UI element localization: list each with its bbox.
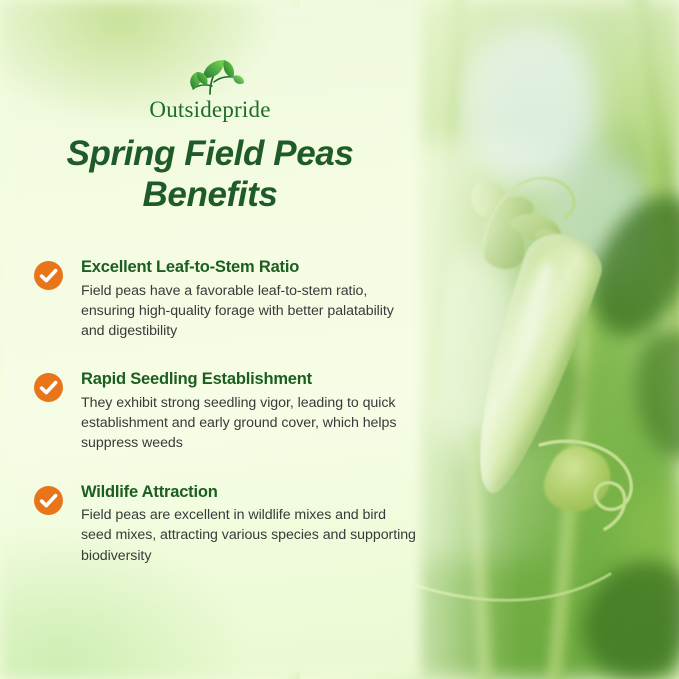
benefit-description: Field peas are excellent in wildlife mix… bbox=[81, 505, 416, 565]
benefit-description: They exhibit strong seedling vigor, lead… bbox=[81, 393, 416, 453]
benefit-title: Excellent Leaf-to-Stem Ratio bbox=[81, 258, 424, 278]
benefits-list: Excellent Leaf-to-Stem Ratio Field peas … bbox=[34, 258, 424, 566]
check-circle-icon bbox=[34, 261, 63, 290]
title-line-2: Benefits bbox=[28, 175, 392, 216]
infographic-canvas: Outsidepride Spring Field Peas Benefits … bbox=[0, 0, 679, 679]
check-circle-icon bbox=[34, 486, 63, 515]
benefit-item: Excellent Leaf-to-Stem Ratio Field peas … bbox=[34, 258, 424, 341]
brand-name: Outsidepride bbox=[0, 98, 420, 121]
benefit-item: Wildlife Attraction Field peas are excel… bbox=[34, 483, 424, 566]
benefit-title: Rapid Seedling Establishment bbox=[81, 370, 424, 390]
page-title: Spring Field Peas Benefits bbox=[28, 134, 392, 215]
brand-logo[interactable]: Outsidepride bbox=[0, 48, 420, 121]
content-layer: Outsidepride Spring Field Peas Benefits … bbox=[0, 0, 679, 679]
title-line-1: Spring Field Peas bbox=[28, 134, 392, 175]
benefit-item: Rapid Seedling Establishment They exhibi… bbox=[34, 370, 424, 453]
three-leaf-sprig-icon bbox=[174, 48, 246, 96]
check-circle-icon bbox=[34, 373, 63, 402]
benefit-title: Wildlife Attraction bbox=[81, 483, 424, 503]
benefit-description: Field peas have a favorable leaf-to-stem… bbox=[81, 281, 416, 341]
